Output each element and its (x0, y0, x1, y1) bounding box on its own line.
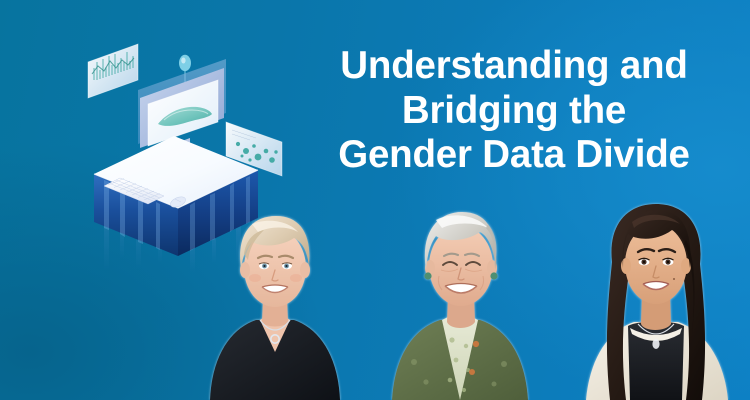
data-wave-ribbon (124, 30, 256, 78)
speaker-two-photo (392, 194, 528, 400)
banner-title: Understanding and Bridging the Gender Da… (288, 44, 740, 178)
speaker-one-photo (208, 194, 342, 400)
webinar-banner: Understanding and Bridging the Gender Da… (0, 0, 750, 400)
left-chart-panel (88, 44, 138, 98)
speaker-three-photo (582, 184, 732, 400)
title-line-1: Understanding and (288, 44, 740, 89)
title-line-3: Gender Data Divide (288, 133, 740, 178)
title-line-2: Bridging the (288, 89, 740, 134)
